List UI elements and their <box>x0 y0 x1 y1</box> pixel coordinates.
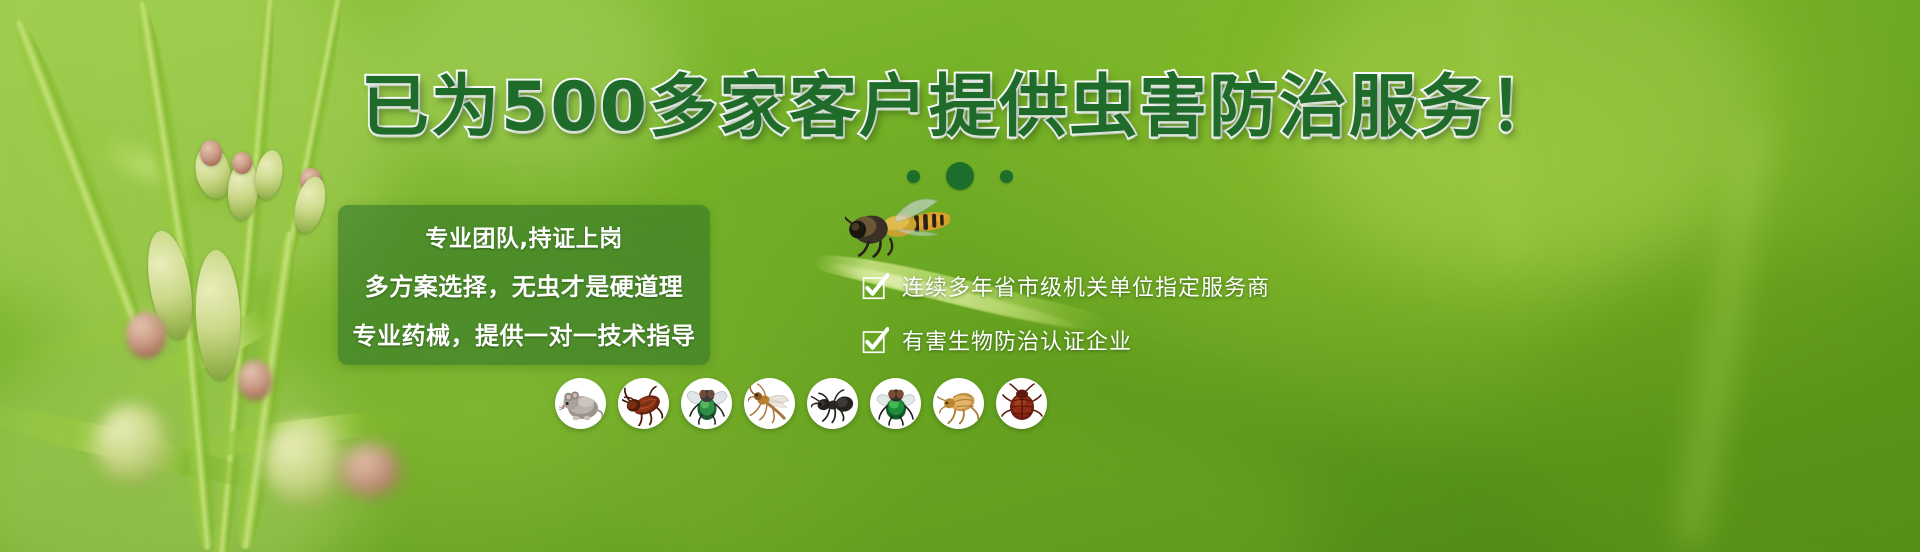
decor-dot-large-center <box>946 162 974 190</box>
background-bokeh <box>1520 250 1920 552</box>
pest-icon-row <box>555 378 1047 429</box>
blowfly-icon <box>874 382 918 426</box>
pest-icon-mouse[interactable] <box>555 378 606 429</box>
headline-container: 已为500多家客户提供虫害防治服务！ <box>0 74 1920 142</box>
pest-icon-mosquito[interactable] <box>744 378 795 429</box>
plant-bud <box>340 444 400 496</box>
pest-icon-ant[interactable] <box>807 378 858 429</box>
background-bokeh <box>380 0 680 180</box>
decor-dot-small-right <box>1000 170 1013 183</box>
selling-points-card: 专业团队,持证上岗 多方案选择，无虫才是硬道理 专业药械，提供一对一技术指导 <box>338 205 710 365</box>
pest-icon-bedbug[interactable] <box>996 378 1047 429</box>
background-grass-blade <box>1462 0 1532 261</box>
checkbox-checked-icon <box>862 273 889 300</box>
decorative-dots <box>0 162 1920 190</box>
bedbug-icon <box>1000 382 1044 426</box>
ant-icon <box>811 382 855 426</box>
decor-dot-small-left <box>907 170 920 183</box>
certification-list: 连续多年省市级机关单位指定服务商 有害生物防治认证企业 <box>862 270 1270 356</box>
background-bokeh <box>1290 0 1770 280</box>
pest-icon-cockroach[interactable] <box>618 378 669 429</box>
plant-bud <box>194 249 243 380</box>
flea-icon <box>937 382 981 426</box>
checkbox-checked-icon <box>862 327 889 354</box>
plant-bud <box>238 360 272 400</box>
mosquito-icon <box>748 382 792 426</box>
hoverfly-icon <box>845 198 950 260</box>
certification-label: 连续多年省市级机关单位指定服务商 <box>902 270 1270 302</box>
housefly-icon <box>685 382 729 426</box>
selling-point-line-2: 多方案选择，无虫才是硬道理 <box>365 267 684 302</box>
mouse-icon <box>559 382 603 426</box>
cockroach-icon <box>622 382 666 426</box>
pest-icon-flea[interactable] <box>933 378 984 429</box>
selling-point-line-3: 专业药械，提供一对一技术指导 <box>353 316 696 351</box>
certification-item: 连续多年省市级机关单位指定服务商 <box>862 270 1270 302</box>
certification-item: 有害生物防治认证企业 <box>862 324 1270 356</box>
plant-bud <box>126 312 166 358</box>
pest-control-banner: 已为500多家客户提供虫害防治服务！ 专业团队,持证上岗 多方案选择，无虫才是硬… <box>0 0 1920 552</box>
plant-bud <box>264 420 344 506</box>
page-title: 已为500多家客户提供虫害防治服务！ <box>361 74 1559 142</box>
plant-bud <box>96 404 168 484</box>
certification-label: 有害生物防治认证企业 <box>902 324 1132 356</box>
pest-icon-housefly[interactable] <box>681 378 732 429</box>
pest-icon-blowfly[interactable] <box>870 378 921 429</box>
selling-point-line-1: 专业团队,持证上岗 <box>425 219 622 253</box>
